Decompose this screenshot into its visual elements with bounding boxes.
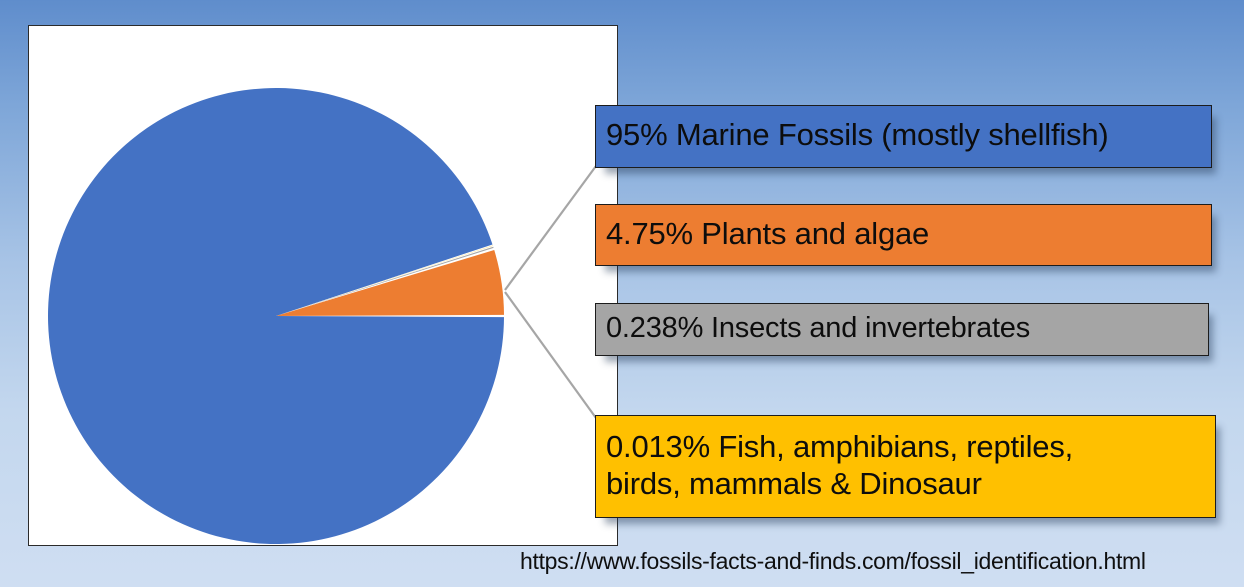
source-url[interactable]: https://www.fossils-facts-and-finds.com/… (520, 548, 1220, 575)
callout-fish-amphibians[interactable]: 0.013% Fish, amphibians, reptiles, birds… (595, 415, 1216, 518)
callout-marine-fossils[interactable]: 95% Marine Fossils (mostly shellfish) (595, 105, 1212, 168)
chart-panel (28, 25, 618, 546)
pie-chart-svg (29, 26, 619, 547)
callout-label-fish-amphibians-line2: birds, mammals & Dinosaur (606, 466, 1073, 503)
pie-chart (29, 26, 619, 547)
pie-slice-marine-fossils[interactable] (48, 88, 504, 544)
callout-label-marine-fossils: 95% Marine Fossils (mostly shellfish) (606, 117, 1109, 154)
callout-label-insects-invertebrates: 0.238% Insects and invertebrates (606, 311, 1030, 345)
callout-label-fish-amphibians: 0.013% Fish, amphibians, reptiles, birds… (606, 429, 1073, 502)
slide-canvas: 95% Marine Fossils (mostly shellfish) 4.… (0, 0, 1244, 587)
callout-label-plants-algae: 4.75% Plants and algae (606, 216, 929, 253)
callout-label-fish-amphibians-line1: 0.013% Fish, amphibians, reptiles, (606, 429, 1073, 466)
callout-insects-invertebrates[interactable]: 0.238% Insects and invertebrates (595, 303, 1209, 356)
callout-plants-algae[interactable]: 4.75% Plants and algae (595, 204, 1212, 266)
